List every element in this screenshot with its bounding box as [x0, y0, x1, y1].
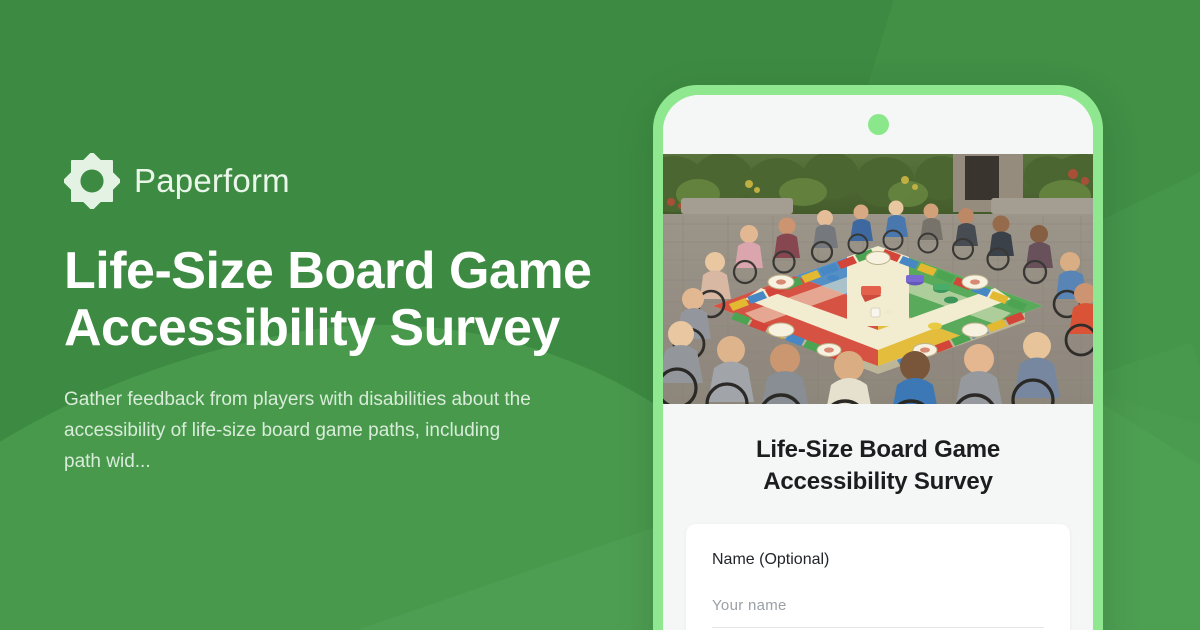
social-share-card: Paperform Life-Size Board Game Accessibi… — [0, 0, 1200, 630]
page-title: Life-Size Board Game Accessibility Surve… — [64, 243, 594, 357]
page-description: Gather feedback from players with disabi… — [64, 385, 534, 477]
brand-lockup: Paperform — [64, 153, 604, 209]
name-input[interactable]: Your name — [712, 597, 1044, 628]
camera-dot-icon — [868, 114, 889, 135]
phone-screen: Life-Size Board Game Accessibility Surve… — [663, 95, 1093, 630]
form-card: Name (Optional) Your name — [686, 524, 1070, 630]
hero-content: Paperform Life-Size Board Game Accessibi… — [64, 0, 604, 630]
paperform-logo-icon — [64, 153, 120, 209]
form-title: Life-Size Board Game Accessibility Surve… — [663, 404, 1093, 524]
form-cover-photo — [663, 154, 1093, 404]
name-field-label: Name (Optional) — [712, 551, 1044, 569]
brand-name: Paperform — [134, 162, 290, 200]
phone-status-bar — [663, 95, 1093, 154]
phone-mockup: Life-Size Board Game Accessibility Surve… — [653, 85, 1103, 630]
